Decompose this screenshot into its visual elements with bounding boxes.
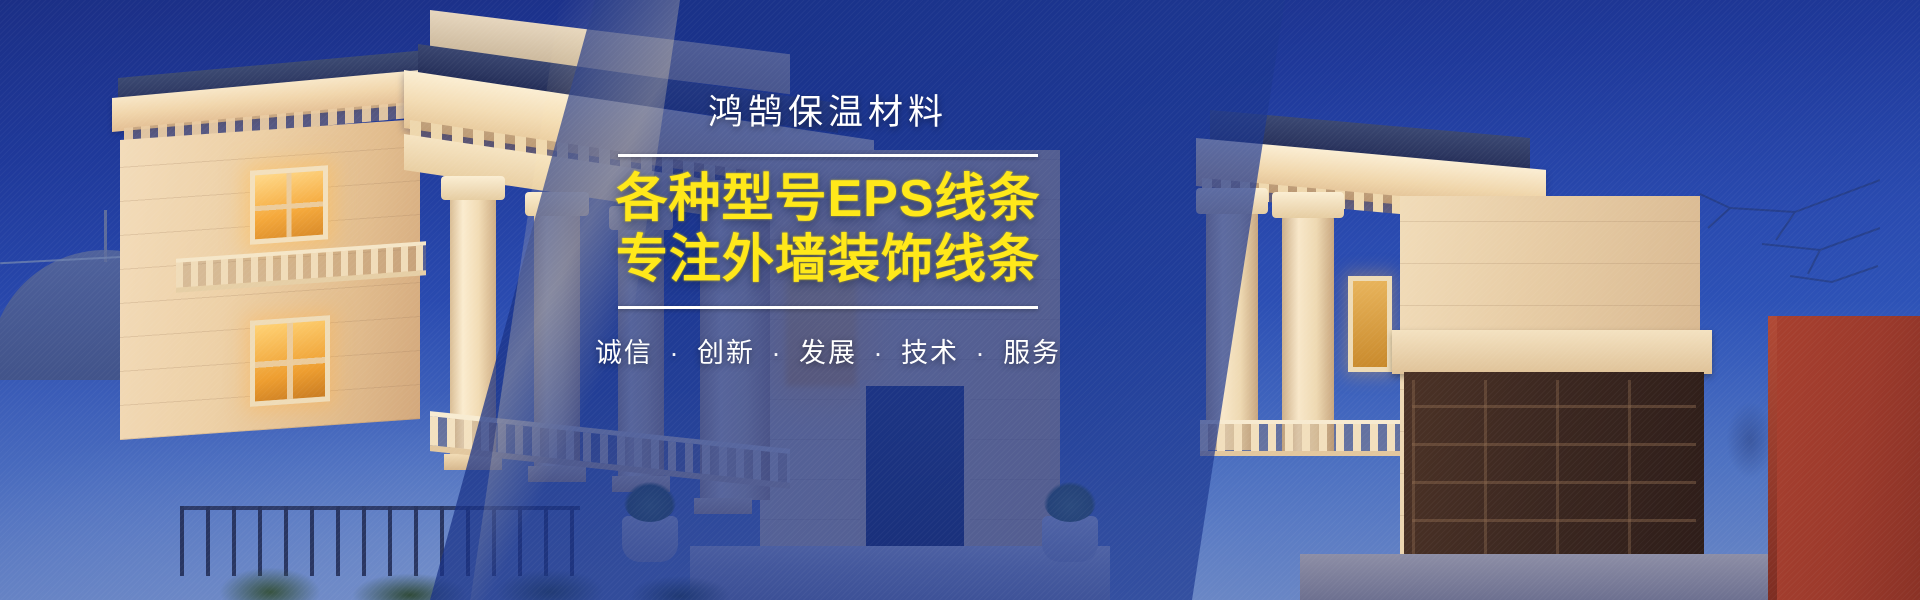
tagline-item-2: 发展 (799, 338, 857, 368)
banner-text-block: 鸿鹄保温材料 各种型号EPS线条 专注外墙装饰线条 诚信 · 创新 · 发展 ·… (568, 92, 1088, 370)
garage-header-molding (1392, 330, 1712, 374)
headline-line-2: 专注外墙装饰线条 (568, 232, 1088, 288)
garage-door (1404, 372, 1704, 568)
tagline-item-3: 技术 (901, 338, 959, 368)
tagline-item-1: 创新 (697, 338, 755, 368)
red-wall-panel (1768, 316, 1920, 600)
tagline-separator-3: · (976, 338, 987, 368)
tagline: 诚信 · 创新 · 发展 · 技术 · 服务 (568, 331, 1088, 370)
headline-line-1: 各种型号EPS线条 (615, 170, 1040, 228)
tagline-separator-2: · (874, 338, 885, 368)
tagline-item-4: 服务 (1003, 338, 1061, 368)
tagline-separator-0: · (669, 338, 680, 368)
divider-lower (618, 306, 1038, 309)
company-name: 鸿鹄保温材料 (568, 92, 1088, 134)
tagline-item-0: 诚信 (595, 338, 653, 368)
right-column-2 (1282, 214, 1334, 454)
left-upper-window (250, 165, 328, 244)
right-window (1348, 276, 1392, 372)
divider-upper (618, 154, 1038, 157)
promotional-banner: 鸿鹄保温材料 各种型号EPS线条 专注外墙装饰线条 诚信 · 创新 · 发展 ·… (0, 0, 1920, 600)
antenna-spire (104, 210, 107, 262)
right-balustrade (1200, 420, 1410, 456)
left-lower-window (250, 315, 330, 407)
tagline-separator-1: · (771, 338, 782, 368)
headline-group: 各种型号EPS线条 专注外墙装饰线条 (568, 171, 1088, 288)
